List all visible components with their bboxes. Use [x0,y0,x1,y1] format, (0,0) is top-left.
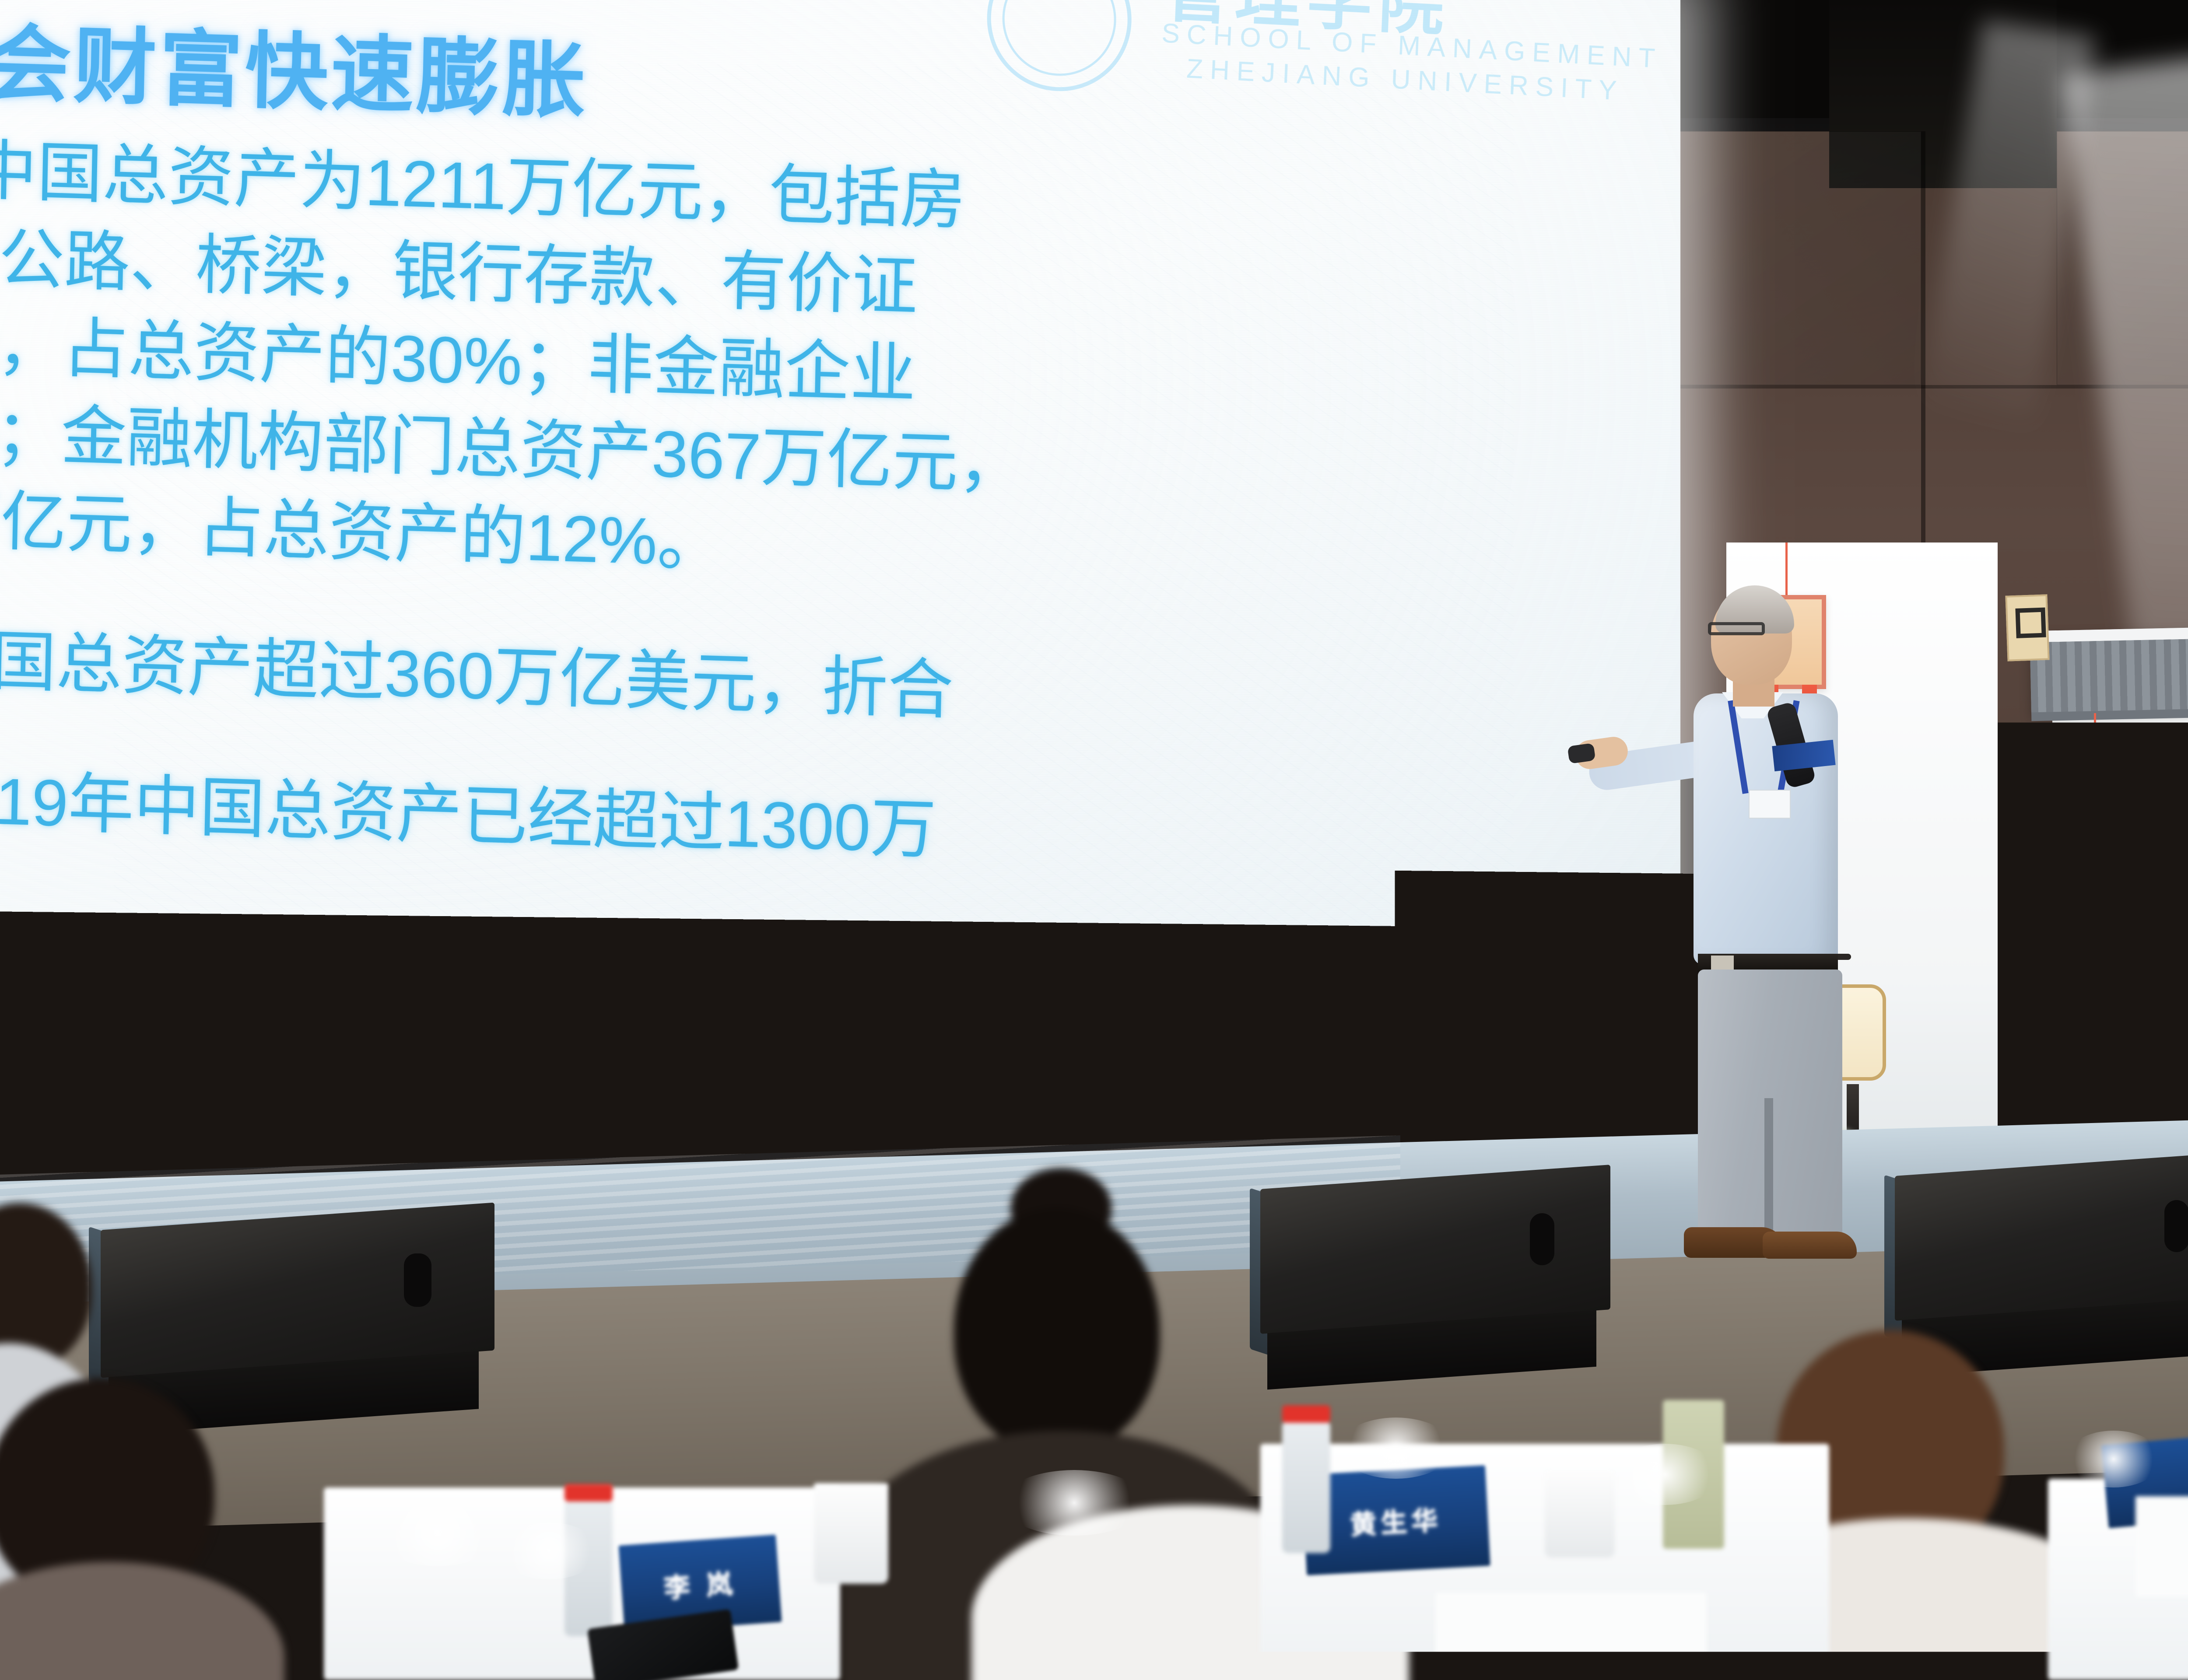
notepad-center [1435,1592,1707,1680]
monitor-face-2 [1260,1165,1610,1334]
presenter-leg-separation [1764,1098,1773,1242]
wall-panel-upper-left [1645,131,1921,385]
water-bottle-left [565,1501,613,1636]
slide-content: 社会财富快速膨胀 6年中国总资产为1211万亿元，包括房 路、公路、桥梁，银行存… [0,0,1623,1253]
slide-title: 社会财富快速膨胀 [0,0,589,134]
notepad-right [2135,1496,2188,1597]
audience-shoulders-left [0,1562,284,1680]
lantern-tassel-right-1 [2074,838,2089,891]
monitor-handle-3 [2164,1200,2188,1253]
belt-buckle [1711,955,1734,970]
monitor-face-1 [101,1203,494,1378]
bottle-cap-center [1282,1405,1330,1423]
roof-tiles-right [2030,636,2188,714]
monitor-handle-2 [1530,1213,1554,1266]
hanging-lantern-right [2062,757,2131,843]
projection-screen: 社会财富快速膨胀 6年中国总资产为1211万亿元，包括房 路、公路、桥梁，银行存… [0,0,1680,1291]
presenter-torso [1694,693,1838,965]
lantern-string-right [2094,713,2096,761]
glasses-icon [1708,622,1765,635]
chinese-roof-right [2030,625,2188,714]
photograph-canvas: 社会财富快速膨胀 6年中国总资产为1211万亿元，包括房 路、公路、桥梁，银行存… [0,0,2188,1680]
audience-member-left [0,1378,293,1680]
audience-head-center [954,1207,1160,1452]
paper-cup-left [814,1483,888,1584]
roof-finial-left-a [1681,421,1725,488]
water-bottle-center [1282,1422,1330,1553]
wall-panel-upper-right [2057,131,2188,385]
wall-groove-horizontal-1 [1641,385,2188,388]
chinese-roof-left [1704,452,2011,545]
roof-finial-right-a [2005,594,2049,661]
presenter [1645,591,1873,1299]
monitor-face-3 [1895,1151,2188,1321]
bamboo-tumbler [1663,1400,1724,1549]
monitor-handle-1 [404,1253,431,1307]
presenter-badge [1749,790,1791,819]
roof-tiles-left [1704,464,2012,545]
presenter-shoe-right [1763,1232,1857,1259]
stage-monitor-wedge-2 [1260,1177,1610,1378]
bottle-cap-left [565,1484,613,1501]
lantern-tassel-right-2 [2108,838,2123,891]
slide-body: 6年中国总资产为1211万亿元，包括房 路、公路、桥梁，银行存款、有价证 亿元，… [0,123,1576,892]
roof-finial-left-b [1876,405,1920,472]
university-seal-icon [984,0,1134,95]
paper-cup-center [1545,1470,1615,1557]
